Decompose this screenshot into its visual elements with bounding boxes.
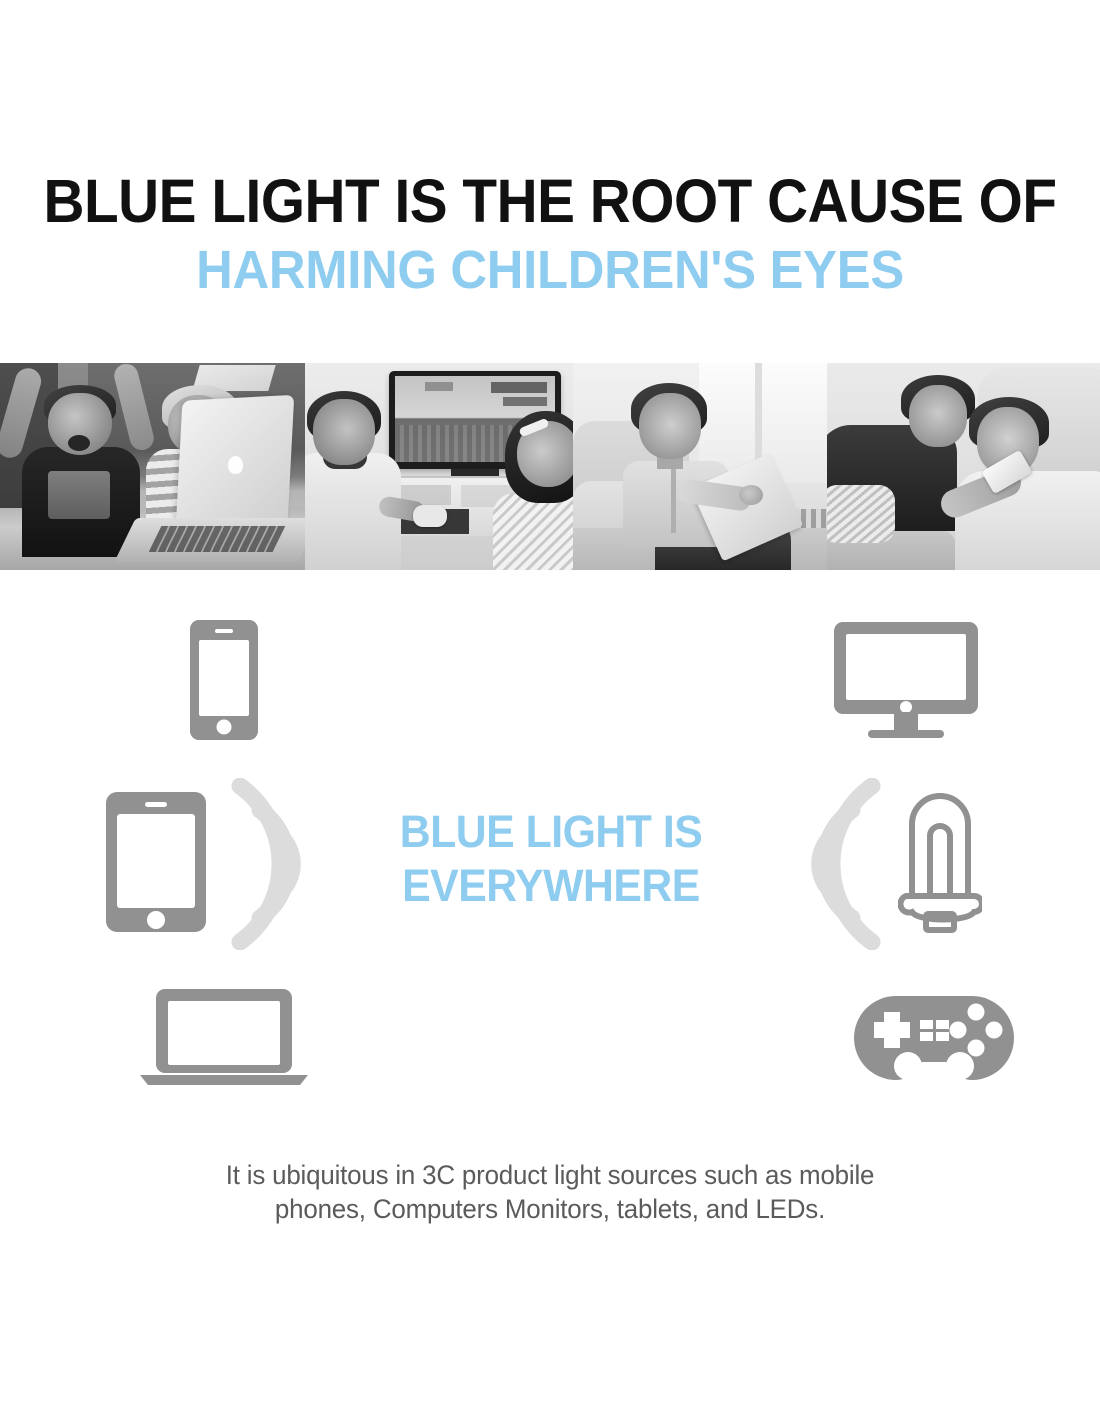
center-headline-line-2: EVERYWHERE bbox=[365, 859, 737, 913]
headline-line-2: HARMING CHILDREN'S EYES bbox=[33, 240, 1067, 300]
tablet-icon bbox=[104, 790, 208, 939]
laptop-icon bbox=[138, 985, 310, 1094]
signal-waves-right-icon bbox=[780, 778, 884, 955]
monitor-icon bbox=[832, 620, 980, 745]
photo-strip bbox=[0, 363, 1100, 570]
photo-panel-boys-with-phone bbox=[827, 363, 1100, 570]
page-title: BLUE LIGHT IS THE ROOT CAUSE OF HARMING … bbox=[0, 168, 1100, 300]
center-headline: BLUE LIGHT IS EVERYWHERE bbox=[355, 805, 747, 913]
smartphone-icon bbox=[188, 618, 260, 747]
center-headline-line-1: BLUE LIGHT IS bbox=[365, 805, 737, 859]
caption-text: It is ubiquitous in 3C product light sou… bbox=[120, 1158, 980, 1226]
cfl-bulb-icon bbox=[898, 790, 982, 943]
signal-waves-left-icon bbox=[228, 778, 332, 955]
photo-panel-kids-at-laptop bbox=[0, 363, 305, 570]
photo-panel-boy-with-tablet bbox=[573, 363, 827, 570]
caption-line-1: It is ubiquitous in 3C product light sou… bbox=[137, 1158, 963, 1192]
game-controller-icon bbox=[848, 990, 1020, 1091]
photo-panel-kids-playing-console bbox=[305, 363, 573, 570]
headline-line-1: BLUE LIGHT IS THE ROOT CAUSE OF bbox=[39, 168, 1062, 234]
caption-line-2: phones, Computers Monitors, tablets, and… bbox=[137, 1192, 963, 1226]
